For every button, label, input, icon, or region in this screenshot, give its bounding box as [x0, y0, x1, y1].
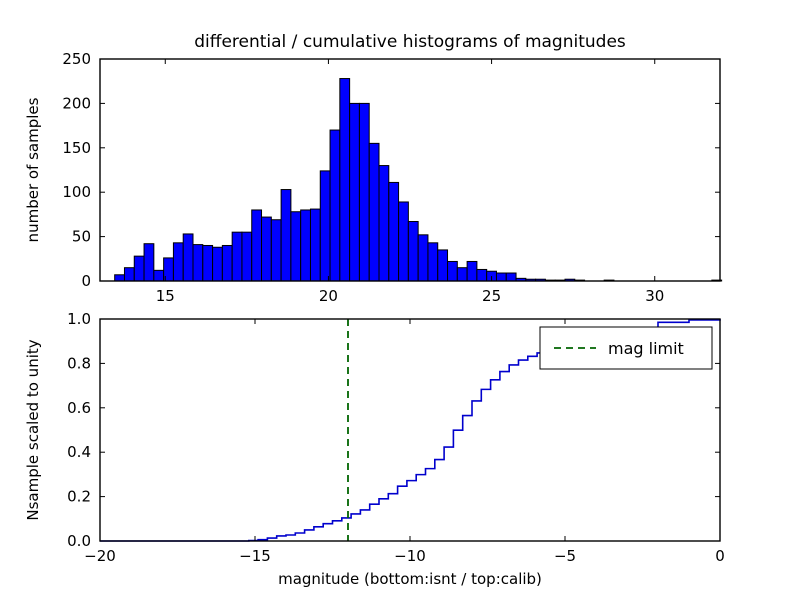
x-tick-label: 30 — [645, 287, 664, 305]
histogram-bar — [438, 250, 448, 281]
histogram-bar — [399, 202, 409, 281]
histogram-bar — [330, 130, 340, 281]
legend-label-mag-limit: mag limit — [608, 339, 684, 358]
y-tick-label: 150 — [62, 139, 91, 157]
histogram-bar — [301, 210, 311, 281]
histogram-bar — [350, 103, 360, 281]
legend[interactable]: mag limit — [540, 327, 712, 369]
histogram-bar — [389, 182, 399, 281]
histogram-bar — [320, 171, 330, 281]
histogram-bar — [467, 261, 477, 281]
chart-title: differential / cumulative histograms of … — [194, 32, 626, 52]
histogram-bar — [252, 210, 262, 281]
figure-canvas: 15202530050100150200250number of samples… — [0, 0, 800, 600]
histogram-bar — [340, 79, 350, 281]
histogram-bar — [418, 235, 428, 281]
y-tick-label: 50 — [72, 228, 91, 246]
y-axis-label: Nsample scaled to unity — [24, 339, 42, 520]
histogram-bar — [359, 103, 369, 281]
histogram-bar — [291, 212, 301, 281]
x-tick-label: −10 — [394, 547, 426, 565]
x-tick-label: 20 — [319, 287, 338, 305]
histogram-bar — [144, 244, 154, 281]
histogram-bar — [448, 261, 458, 281]
histogram-bar — [408, 222, 418, 282]
histogram-bar — [134, 256, 144, 281]
histogram-bar — [496, 273, 506, 281]
x-tick-label: 15 — [156, 287, 175, 305]
histogram-bar — [124, 268, 134, 281]
x-tick-label: 0 — [715, 547, 725, 565]
histogram-bar — [506, 273, 516, 281]
histogram-bar — [193, 245, 203, 281]
histogram-bar — [262, 217, 272, 281]
y-tick-label: 250 — [62, 50, 91, 68]
y-tick-label: 200 — [62, 94, 91, 112]
axes-cumulative-histogram: −20−15−10−500.00.20.40.60.81.0Nsample sc… — [24, 310, 725, 588]
y-tick-label: 0.2 — [67, 488, 91, 506]
histogram-bar — [232, 232, 242, 281]
histogram-bar — [183, 234, 193, 281]
y-tick-label: 0.0 — [67, 532, 91, 550]
x-axis-label: magnitude (bottom:isnt / top:calib) — [278, 570, 542, 588]
y-tick-label: 0 — [81, 272, 91, 290]
x-tick-label: −15 — [239, 547, 271, 565]
matplotlib-figure: 15202530050100150200250number of samples… — [0, 0, 800, 600]
x-tick-label: −5 — [554, 547, 576, 565]
histogram-bar — [310, 209, 320, 281]
histogram-bar — [281, 190, 291, 281]
histogram-bar — [213, 247, 223, 281]
y-axis-label: number of samples — [24, 97, 42, 242]
histogram-bar — [115, 275, 125, 281]
histogram-bar — [222, 245, 232, 281]
histogram-bar — [477, 269, 487, 281]
y-tick-label: 100 — [62, 183, 91, 201]
histogram-bar — [173, 243, 183, 281]
histogram-bar — [369, 143, 379, 281]
histogram-bar — [379, 166, 389, 281]
x-tick-label: 25 — [482, 287, 501, 305]
histogram-bar — [271, 220, 281, 281]
axes-differential-histogram: 15202530050100150200250number of samples… — [24, 32, 722, 305]
y-tick-label: 0.4 — [67, 443, 91, 461]
histogram-bar — [203, 245, 213, 281]
y-tick-label: 1.0 — [67, 310, 91, 328]
histogram-bar — [457, 268, 467, 281]
y-tick-label: 0.6 — [67, 399, 91, 417]
histogram-bar — [154, 270, 164, 281]
histogram-bar — [242, 232, 252, 281]
y-tick-label: 0.8 — [67, 354, 91, 372]
histogram-bar — [428, 243, 438, 281]
